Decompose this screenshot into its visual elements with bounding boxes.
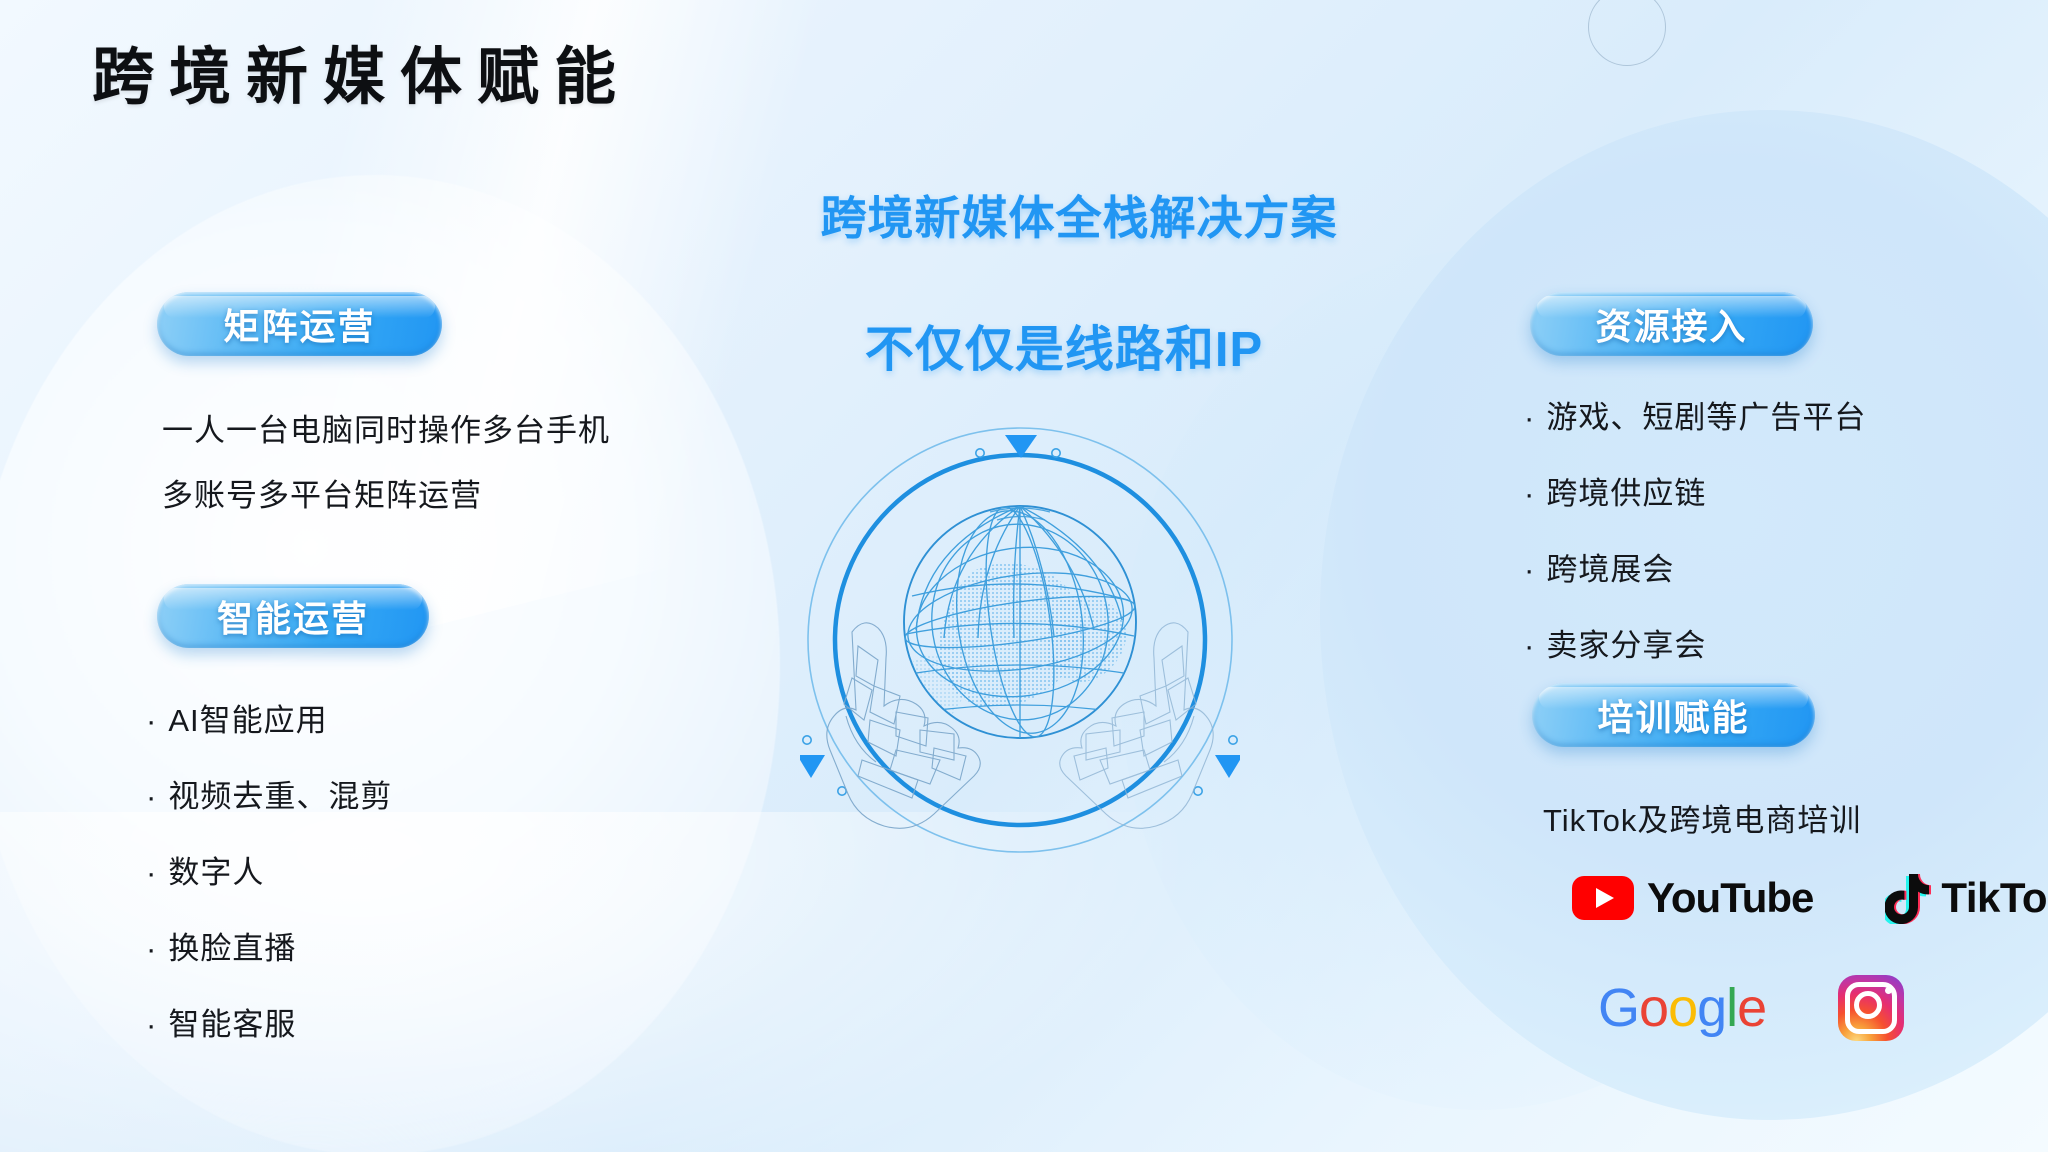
list-item: ·智能客服: [146, 999, 392, 1044]
badge-resource-access-label: 资源接入: [1595, 298, 1747, 350]
matrix-line-2: 多账号多平台矩阵运营: [162, 470, 482, 515]
bullet-dot-icon: ·: [1524, 628, 1535, 664]
list-item: ·跨境供应链: [1524, 468, 1866, 513]
youtube-logo-label: YouTube: [1647, 874, 1813, 922]
list-item: ·跨境展会: [1524, 544, 1866, 589]
bullet-dot-icon: ·: [1524, 552, 1535, 588]
slide-canvas: 跨境新媒体赋能 跨境新媒体全栈解决方案 不仅仅是线路和IP 矩阵运营 一人一台电…: [0, 0, 2048, 1152]
tiktok-note-icon: [1885, 872, 1931, 924]
tiktok-logo-label: TikTok: [1941, 874, 2048, 922]
google-logo[interactable]: Google: [1598, 977, 1766, 1039]
bullet-dot-icon: ·: [1524, 400, 1535, 436]
badge-matrix-operations[interactable]: 矩阵运营: [157, 292, 442, 356]
bullet-dot-icon: ·: [146, 779, 157, 815]
badge-smart-operations-label: 智能运营: [217, 590, 369, 642]
list-item: ·数字人: [146, 847, 392, 892]
resource-access-list: ·游戏、短剧等广告平台 ·跨境供应链 ·跨境展会 ·卖家分享会: [1524, 392, 1866, 696]
google-letter-e: e: [1737, 978, 1766, 1038]
badge-matrix-operations-label: 矩阵运营: [223, 298, 375, 350]
platform-logo-row-2: Google: [1598, 975, 1904, 1041]
list-item-label: 游戏、短剧等广告平台: [1546, 400, 1866, 435]
list-item-label: 换脸直播: [168, 931, 296, 966]
list-item-label: 视频去重、混剪: [168, 779, 392, 814]
google-letter-l: l: [1726, 978, 1737, 1038]
matrix-line-1: 一人一台电脑同时操作多台手机: [162, 405, 610, 450]
bullet-dot-icon: ·: [146, 1007, 157, 1043]
decorative-circle-icon: [1588, 0, 1666, 66]
list-item: ·视频去重、混剪: [146, 771, 392, 816]
google-letter-o1: o: [1639, 978, 1668, 1038]
google-letter-g2: g: [1697, 978, 1726, 1038]
badge-training-empowerment[interactable]: 培训赋能: [1532, 683, 1815, 747]
instagram-frame-icon: [1845, 982, 1897, 1034]
list-item-label: 跨境展会: [1546, 552, 1674, 587]
center-headline-primary-text: 跨境新媒体全栈解决方案: [711, 192, 1338, 244]
center-headline-secondary-text: 不仅仅是线路和IP: [785, 323, 1263, 377]
page-title: 跨境新媒体赋能: [92, 44, 631, 112]
youtube-play-icon: [1572, 876, 1634, 920]
list-item-label: AI智能应用: [168, 703, 327, 738]
google-letter-g1: G: [1598, 978, 1639, 1038]
platform-logo-row-1: YouTube TikTok: [1572, 872, 2048, 924]
list-item-label: 数字人: [168, 855, 264, 890]
list-item: ·AI智能应用: [146, 695, 392, 740]
list-item-label: 卖家分享会: [1546, 628, 1706, 663]
bullet-dot-icon: ·: [146, 931, 157, 967]
globe-in-hands-svg: [800, 420, 1240, 860]
list-item: ·卖家分享会: [1524, 620, 1866, 665]
list-item-label: 跨境供应链: [1546, 476, 1706, 511]
list-item: ·换脸直播: [146, 923, 392, 968]
youtube-logo[interactable]: YouTube: [1572, 874, 1813, 922]
badge-smart-operations[interactable]: 智能运营: [157, 584, 429, 648]
list-item: ·游戏、短剧等广告平台: [1524, 392, 1866, 437]
smart-operations-list: ·AI智能应用 ·视频去重、混剪 ·数字人 ·换脸直播 ·智能客服: [146, 695, 392, 1075]
google-letter-o2: o: [1668, 978, 1697, 1038]
badge-resource-access[interactable]: 资源接入: [1530, 292, 1813, 356]
bullet-dot-icon: ·: [1524, 476, 1535, 512]
badge-training-empowerment-label: 培训赋能: [1597, 689, 1749, 741]
tiktok-logo[interactable]: TikTok: [1885, 872, 2048, 924]
instagram-logo[interactable]: [1838, 975, 1904, 1041]
bullet-dot-icon: ·: [146, 855, 157, 891]
globe-in-hands-illustration: [800, 420, 1240, 860]
list-item-label: 智能客服: [168, 1007, 296, 1042]
bullet-dot-icon: ·: [146, 703, 157, 739]
center-headline-primary: 跨境新媒体全栈解决方案: [0, 182, 2048, 248]
training-description: TikTok及跨境电商培训: [1543, 795, 1861, 840]
